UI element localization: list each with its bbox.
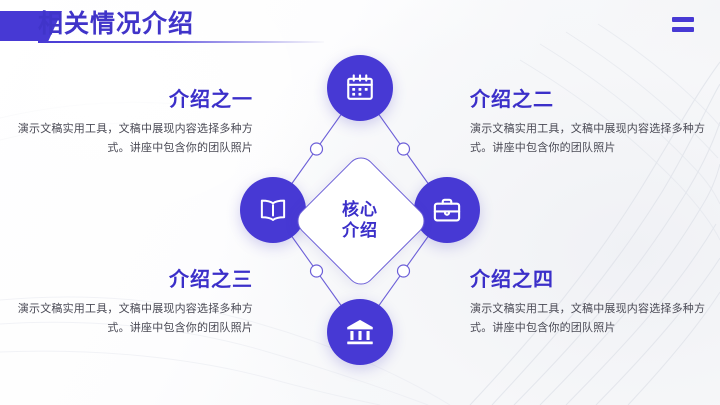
info-block-one: 介绍之一 演示文稿实用工具，文稿中展现内容选择多种方式。讲座中包含你的团队照片 [8,88,253,158]
briefcase-icon [432,195,462,225]
node-briefcase[interactable] [414,177,480,243]
core-label-line1: 核心 [342,199,378,220]
info-block-one-body: 演示文稿实用工具，文稿中展现内容选择多种方式。讲座中包含你的团队照片 [8,120,253,158]
slide-canvas: 相关情况介绍 [0,0,720,405]
open-book-icon [258,195,288,225]
node-book[interactable] [240,177,306,243]
info-block-three-body: 演示文稿实用工具，文稿中展现内容选择多种方式。讲座中包含你的团队照片 [8,300,253,338]
info-block-four: 介绍之四 演示文稿实用工具，文稿中展现内容选择多种方式。讲座中包含你的团队照片 [470,268,715,338]
info-block-two-body: 演示文稿实用工具，文稿中展现内容选择多种方式。讲座中包含你的团队照片 [470,120,715,158]
node-calendar[interactable] [327,55,393,121]
info-block-three: 介绍之三 演示文稿实用工具，文稿中展现内容选择多种方式。讲座中包含你的团队照片 [8,268,253,338]
bank-icon [345,317,375,347]
info-block-two: 介绍之二 演示文稿实用工具，文稿中展现内容选择多种方式。讲座中包含你的团队照片 [470,88,715,158]
core-label-line2: 介绍 [342,220,378,241]
menu-bar-top [672,17,694,22]
info-block-three-heading: 介绍之三 [8,268,253,292]
equals-menu-icon[interactable] [672,17,694,33]
slide-header: 相关情况介绍 [0,0,720,52]
calendar-icon [345,73,375,103]
info-block-one-heading: 介绍之一 [8,88,253,112]
info-block-four-heading: 介绍之四 [470,268,715,292]
core-diagram: 核心 介绍 [240,55,480,365]
node-bank[interactable] [327,299,393,365]
menu-bar-bottom [672,27,694,32]
info-block-two-heading: 介绍之二 [470,88,715,112]
info-block-four-body: 演示文稿实用工具，文稿中展现内容选择多种方式。讲座中包含你的团队照片 [470,300,715,338]
core-label: 核心 介绍 [312,172,408,268]
title-underline [38,41,324,43]
page-title: 相关情况介绍 [38,8,194,40]
